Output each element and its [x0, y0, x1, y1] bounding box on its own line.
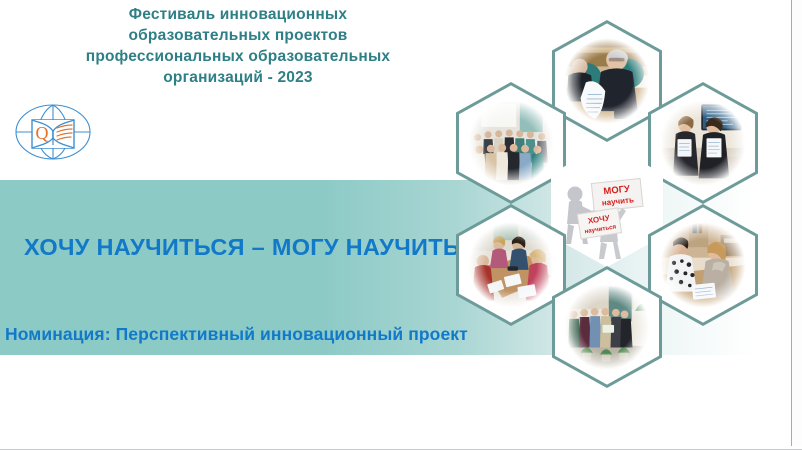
- photo-group-on-stage: [563, 283, 651, 370]
- slide-slogan: ХОЧУ НАУЧИТЬСЯ – МОГУ НАУЧИТЬ: [24, 234, 460, 261]
- nomination-label: Номинация: Перспективный инновационный п…: [5, 324, 468, 345]
- hex-upper-right: [648, 82, 758, 204]
- hex-bottom: [552, 266, 662, 388]
- photo-students-at-table: [467, 221, 555, 308]
- photo-women-with-diplomas: [659, 99, 747, 186]
- center-hexagon-figures: МОГУ научить: [551, 143, 663, 267]
- viewer-right-edge: [791, 0, 802, 450]
- viewer-bottom-edge: [0, 446, 802, 450]
- page-title: Фестиваль инновационных образовательных …: [28, 4, 448, 88]
- hexagon-photo-cluster: МОГУ научить: [440, 0, 802, 362]
- title-line-3: профессиональных образовательных: [28, 46, 448, 67]
- presentation-slide: Фестиваль инновационных образовательных …: [0, 0, 802, 450]
- hex-inner: МОГУ научить: [551, 143, 663, 267]
- photo-man-reading-document: [563, 37, 651, 124]
- globe-book-logo: Q: [10, 100, 96, 164]
- hex-lower-right: [648, 204, 758, 326]
- title-line-2: образовательных проектов: [28, 25, 448, 46]
- hex-upper-left: [456, 82, 566, 204]
- title-line-1: Фестиваль инновационных: [28, 4, 448, 25]
- logo-letter: Q: [36, 123, 49, 143]
- hex-top: [552, 20, 662, 142]
- hex-lower-left: [456, 204, 566, 326]
- photo-pair-at-desk: [659, 221, 747, 308]
- title-line-4: организаций - 2023: [28, 67, 448, 88]
- photo-group-students: [467, 99, 555, 186]
